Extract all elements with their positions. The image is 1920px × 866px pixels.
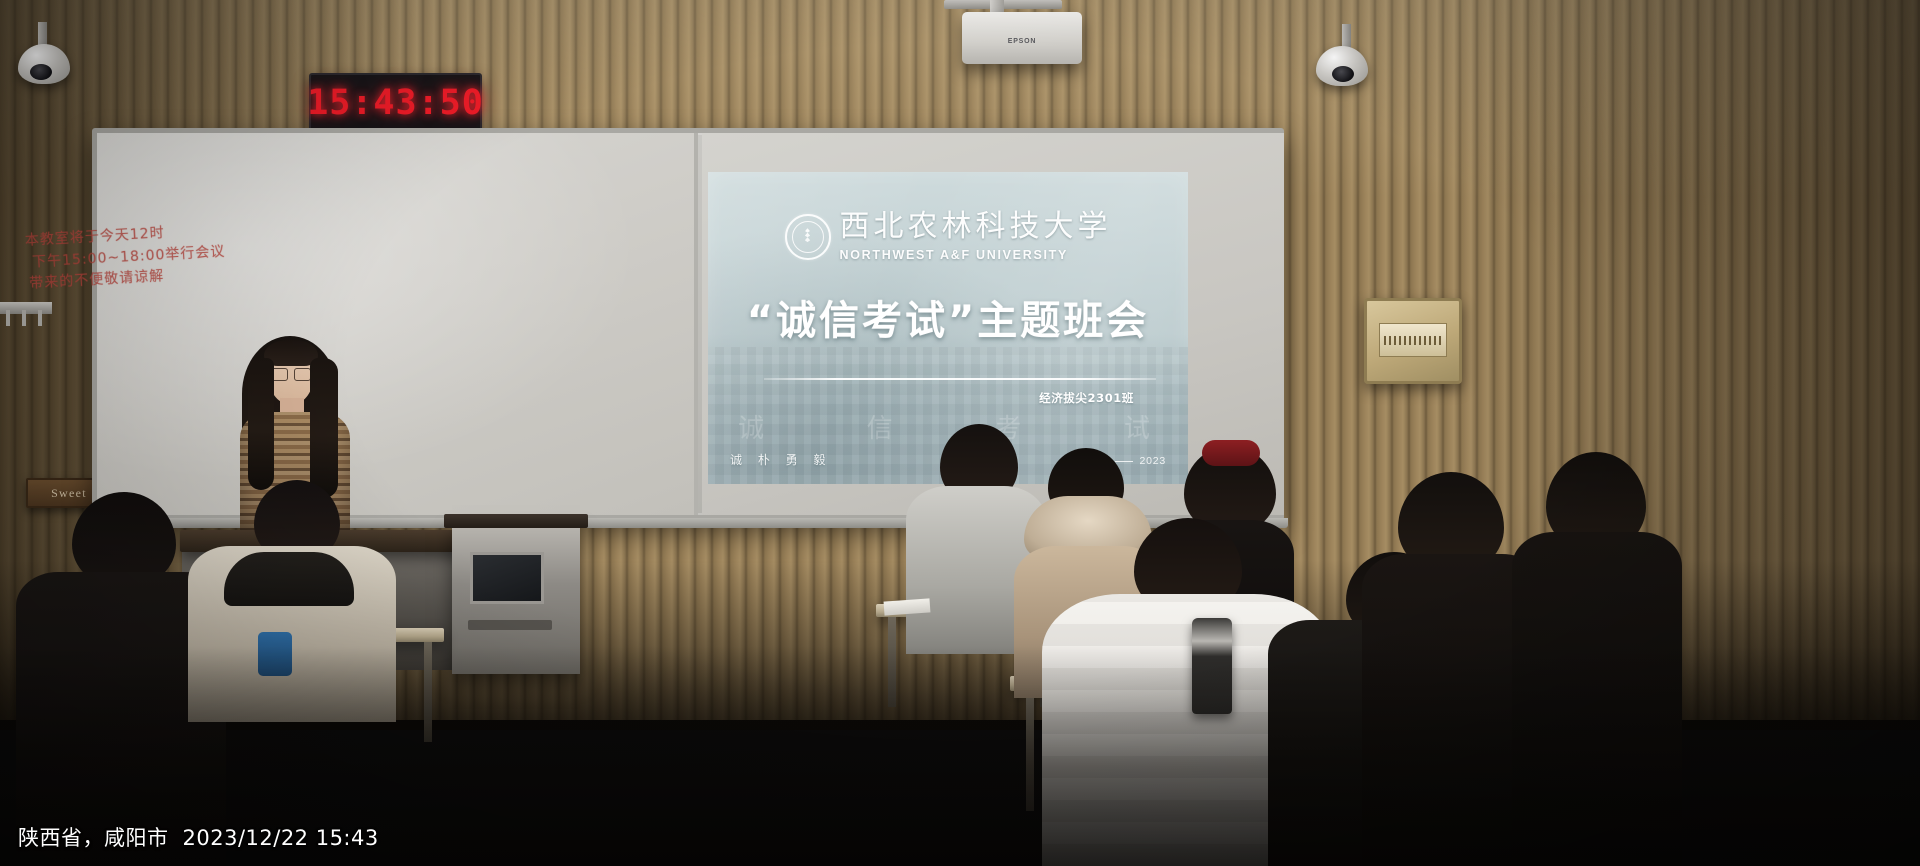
podium-countertop xyxy=(444,514,588,528)
lectern-podium xyxy=(452,524,580,674)
wall-hook xyxy=(38,310,42,326)
teacher-hair-left xyxy=(248,358,274,490)
security-camera-left xyxy=(18,22,78,94)
wall-hook xyxy=(22,310,26,326)
projector-brand-label: EPSON xyxy=(1008,38,1037,45)
slide-class-name: 经济拔尖2301班 xyxy=(1039,390,1134,406)
led-wall-clock: 15:43:50 xyxy=(309,73,482,132)
red-bow-hair-accessory xyxy=(1202,440,1260,466)
university-name-cn: 西北农林科技大学 xyxy=(840,212,1112,242)
podium-equipment-slot xyxy=(468,620,552,630)
electrical-panel[interactable] xyxy=(1364,298,1462,384)
glasses-icon xyxy=(271,368,311,379)
wall-hook xyxy=(6,310,10,326)
watermark-location: 陕西省，咸阳市 xyxy=(18,822,169,852)
student-figure xyxy=(1512,452,1682,866)
desk-leg xyxy=(424,642,432,742)
slide-divider-rule xyxy=(764,378,1156,380)
student-figure xyxy=(182,480,398,720)
university-name-block: 西北农林科技大学 NORTHWEST A&F UNIVERSITY xyxy=(840,212,1112,262)
student-shoulder-scarf xyxy=(224,552,354,606)
watermark-datetime: 2023/12/22 15:43 xyxy=(183,826,379,850)
security-camera-right xyxy=(1316,24,1376,96)
university-name-en: NORTHWEST A&F UNIVERSITY xyxy=(840,249,1069,262)
slide-university-motto: 诚 朴 勇 毅 xyxy=(730,451,831,468)
water-bottle xyxy=(1192,618,1232,714)
camera-lens-icon xyxy=(30,64,52,80)
university-lockup: 西北农林科技大学 NORTHWEST A&F UNIVERSITY xyxy=(708,212,1188,262)
university-seal-icon xyxy=(785,214,831,260)
ceiling-projector: EPSON xyxy=(962,12,1082,64)
blue-cup xyxy=(258,632,292,676)
podium-control-screen[interactable] xyxy=(470,552,544,604)
photo-watermark: 陕西省，咸阳市 2023/12/22 15:43 xyxy=(18,822,379,852)
slide-title: “诚信考试”主题班会 xyxy=(708,288,1188,346)
desk-leg xyxy=(1026,691,1034,811)
student-torso xyxy=(1512,532,1682,866)
panel-breaker-strip xyxy=(1379,323,1447,357)
camera-lens-icon xyxy=(1332,66,1354,82)
classroom-photo: EPSON 15:43:50 Sweet 本教室将于今天12时 下午15:00~… xyxy=(0,0,1920,866)
teacher-hair-right xyxy=(310,358,338,498)
clock-time-display: 15:43:50 xyxy=(307,83,484,123)
desk-leg xyxy=(888,617,896,707)
